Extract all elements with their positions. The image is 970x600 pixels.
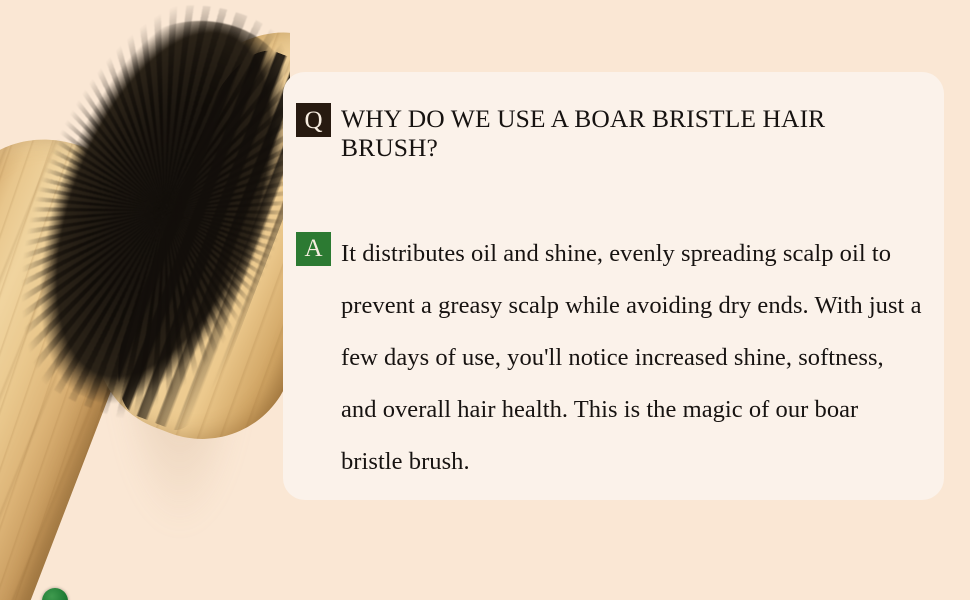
question-text: WHY DO WE USE A BOAR BRISTLE HAIR BRUSH? <box>341 99 924 163</box>
brand-emblem-icon <box>42 588 68 600</box>
faq-banner: Q WHY DO WE USE A BOAR BRISTLE HAIR BRUS… <box>0 0 970 600</box>
question-row: Q WHY DO WE USE A BOAR BRISTLE HAIR BRUS… <box>296 99 924 163</box>
question-badge: Q <box>296 103 331 137</box>
answer-row: A It distributes oil and shine, evenly s… <box>296 228 924 488</box>
answer-badge: A <box>296 232 331 266</box>
product-image-boar-bristle-brush <box>0 0 290 600</box>
faq-card: Q WHY DO WE USE A BOAR BRISTLE HAIR BRUS… <box>283 72 944 500</box>
answer-text: It distributes oil and shine, evenly spr… <box>341 228 924 488</box>
